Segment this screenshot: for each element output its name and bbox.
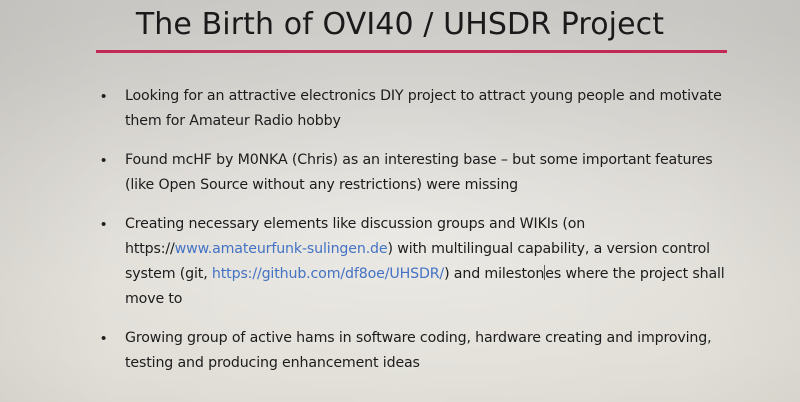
bullet-point-icon: • [96, 212, 125, 237]
list-item-text: Found mcHF by M0NKA (Chris) as an intere… [125, 148, 736, 198]
list-item-text: Growing group of active hams in software… [125, 326, 736, 376]
bullet-point-icon: • [96, 148, 125, 173]
link-amateurfunk-sulingen[interactable]: www.amateurfunk-sulingen.de [175, 241, 388, 257]
list-item: • Found mcHF by M0NKA (Chris) as an inte… [96, 148, 736, 198]
list-item-text-tail-a: ) and mileston [444, 266, 544, 282]
title-divider-rule [96, 50, 727, 53]
bullet-point-icon: • [96, 326, 125, 351]
list-item: • Growing group of active hams in softwa… [96, 326, 736, 376]
page-title: The Birth of OVI40 / UHSDR Project [0, 4, 800, 46]
link-github-uhsdr[interactable]: https://github.com/df8oe/UHSDR/ [212, 266, 444, 282]
title-block: The Birth of OVI40 / UHSDR Project [0, 4, 800, 46]
list-item: • Looking for an attractive electronics … [96, 84, 736, 134]
list-item-text: Looking for an attractive electronics DI… [125, 84, 736, 134]
bullet-list: • Looking for an attractive electronics … [96, 84, 736, 390]
slide-canvas: The Birth of OVI40 / UHSDR Project • Loo… [0, 0, 800, 402]
bullet-point-icon: • [96, 84, 125, 109]
list-item: • Creating necessary elements like discu… [96, 212, 736, 312]
list-item-text: Creating necessary elements like discuss… [125, 212, 736, 312]
